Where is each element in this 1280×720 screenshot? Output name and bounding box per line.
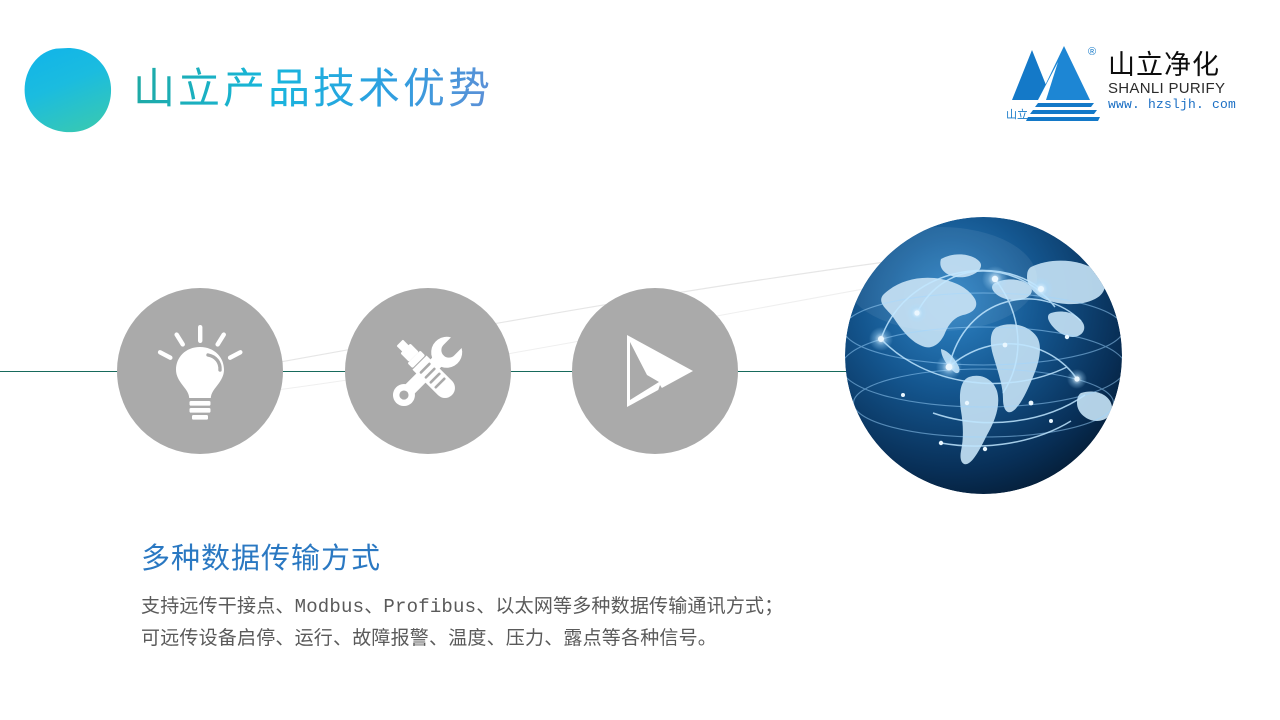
- feature-circle-delivery[interactable]: [572, 288, 738, 454]
- company-logo: ® 山立 山立净化 SHANLI PURIFY www. hzsljh. com: [1002, 44, 1218, 124]
- logo-mark-label: 山立: [1006, 109, 1028, 121]
- network-globe-image: [845, 217, 1122, 494]
- caption-line-1: 支持远传干接点、Modbus、Profibus、以太网等多种数据传输通讯方式；: [141, 591, 921, 623]
- caption-heading: 多种数据传输方式: [141, 540, 921, 578]
- slide-canvas: 山立产品技术优势 ® 山立 山立净化 SHANLI PURIFY www. hz…: [0, 0, 1280, 720]
- logo-website: www. hzsljh. com: [1108, 97, 1220, 113]
- page-title: 山立产品技术优势: [133, 58, 493, 120]
- logo-company-en: SHANLI PURIFY: [1108, 80, 1220, 97]
- header-blob-icon: [22, 46, 114, 134]
- caption-block: 多种数据传输方式 支持远传干接点、Modbus、Profibus、以太网等多种数…: [141, 540, 921, 655]
- feature-circle-idea[interactable]: [117, 288, 283, 454]
- logo-company-cn: 山立净化: [1108, 50, 1220, 80]
- caption-line-2: 可远传设备启停、运行、故障报警、温度、压力、露点等各种信号。: [141, 623, 921, 655]
- wrench-screwdriver-icon: [376, 319, 480, 423]
- lightbulb-icon: [148, 319, 252, 423]
- caption-body: 支持远传干接点、Modbus、Profibus、以太网等多种数据传输通讯方式； …: [141, 591, 921, 655]
- registered-trademark-icon: ®: [1088, 46, 1096, 58]
- logo-wordmark: 山立净化 SHANLI PURIFY www. hzsljh. com: [1108, 50, 1220, 113]
- feature-circle-service[interactable]: [345, 288, 511, 454]
- paper-plane-icon: [603, 319, 707, 423]
- feature-band: [0, 205, 1280, 525]
